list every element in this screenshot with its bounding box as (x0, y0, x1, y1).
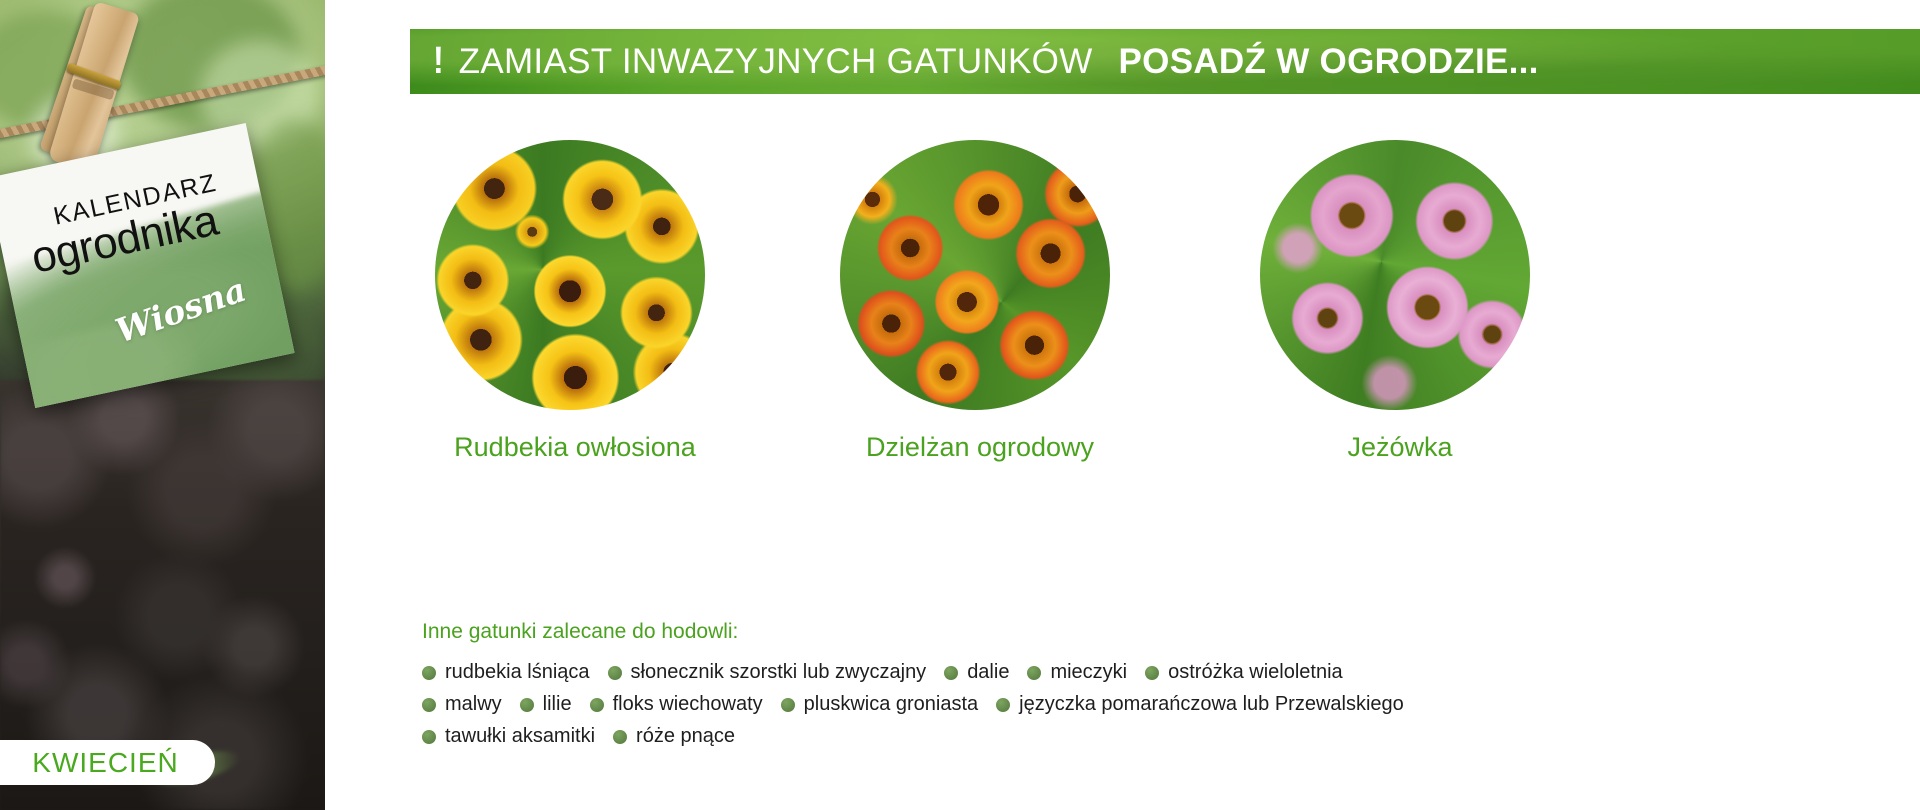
list-item: języczka pomarańczowa lub Przewalskiego (996, 693, 1404, 716)
bullet-icon (944, 666, 958, 680)
flower-card-jezowka: Jeżówka (1260, 140, 1540, 463)
list-item: lilie (520, 693, 572, 716)
list-item: ostróżka wieloletnia (1145, 661, 1343, 684)
list-item: floks wiechowaty (590, 693, 763, 716)
bullet-icon (422, 698, 436, 712)
species-row: malwy lilie floks wiechowaty pluskwica g… (422, 693, 1422, 716)
header-banner: ! ZAMIAST INWAZYJNYCH GATUNKÓW POSADŹ W … (410, 29, 1920, 94)
species-name: mieczyki (1050, 661, 1127, 684)
flower-gallery: Rudbekia owłosiona Dzielżan ogrodowy Jeż… (410, 140, 1920, 430)
list-item: malwy (422, 693, 502, 716)
header-banner-content: ! ZAMIAST INWAZYJNYCH GATUNKÓW POSADŹ W … (432, 29, 1539, 94)
species-name: malwy (445, 693, 502, 716)
list-item: rudbekia lśniąca (422, 661, 590, 684)
banner-text-bold: POSADŹ W OGRODZIE... (1119, 42, 1539, 82)
species-name: floks wiechowaty (613, 693, 763, 716)
species-name: ostróżka wieloletnia (1168, 661, 1343, 684)
poster-root: KALENDARZ ogrodnika Wiosna KWIECIEŃ ! ZA… (0, 0, 1920, 810)
bullet-icon (996, 698, 1010, 712)
bullet-icon (781, 698, 795, 712)
month-label: KWIECIEŃ (32, 747, 178, 779)
species-name: pluskwica groniasta (804, 693, 979, 716)
species-name: języczka pomarańczowa lub Przewalskiego (1019, 693, 1404, 716)
bullet-icon (1027, 666, 1041, 680)
species-name: rudbekia lśniąca (445, 661, 590, 684)
species-list-rows: rudbekia lśniąca słonecznik szorstki lub… (422, 661, 1422, 748)
species-row: rudbekia lśniąca słonecznik szorstki lub… (422, 661, 1422, 684)
species-list-section: Inne gatunki zalecane do hodowli: rudbek… (422, 620, 1422, 748)
list-item: mieczyki (1027, 661, 1127, 684)
exclamation-icon: ! (433, 42, 444, 80)
month-badge: KWIECIEŃ (0, 740, 215, 785)
left-photo-panel: KALENDARZ ogrodnika Wiosna KWIECIEŃ (0, 0, 325, 810)
bullet-icon (422, 730, 436, 744)
species-name: róże pnące (636, 725, 735, 748)
species-list-heading: Inne gatunki zalecane do hodowli: (422, 620, 1422, 644)
bullet-icon (613, 730, 627, 744)
flower-card-dzielzan: Dzielżan ogrodowy (840, 140, 1120, 463)
echinacea-photo (1260, 140, 1530, 410)
flower-caption: Jeżówka (1260, 432, 1540, 463)
list-item: słonecznik szorstki lub zwyczajny (608, 661, 927, 684)
list-item: pluskwica groniasta (781, 693, 979, 716)
helenium-photo (840, 140, 1110, 410)
list-item: tawułki aksamitki (422, 725, 595, 748)
banner-text-regular: ZAMIAST INWAZYJNYCH GATUNKÓW (459, 42, 1093, 82)
species-name: lilie (543, 693, 572, 716)
bullet-icon (520, 698, 534, 712)
flower-caption: Rudbekia owłosiona (435, 432, 715, 463)
bullet-icon (608, 666, 622, 680)
rudbeckia-photo (435, 140, 705, 410)
list-item: dalie (944, 661, 1009, 684)
flower-caption: Dzielżan ogrodowy (840, 432, 1120, 463)
species-name: tawułki aksamitki (445, 725, 595, 748)
species-name: słonecznik szorstki lub zwyczajny (631, 661, 927, 684)
species-row: tawułki aksamitki róże pnące (422, 725, 1422, 748)
bullet-icon (422, 666, 436, 680)
flower-card-rudbekia: Rudbekia owłosiona (435, 140, 715, 463)
bullet-icon (1145, 666, 1159, 680)
bullet-icon (590, 698, 604, 712)
species-name: dalie (967, 661, 1009, 684)
list-item: róże pnące (613, 725, 735, 748)
